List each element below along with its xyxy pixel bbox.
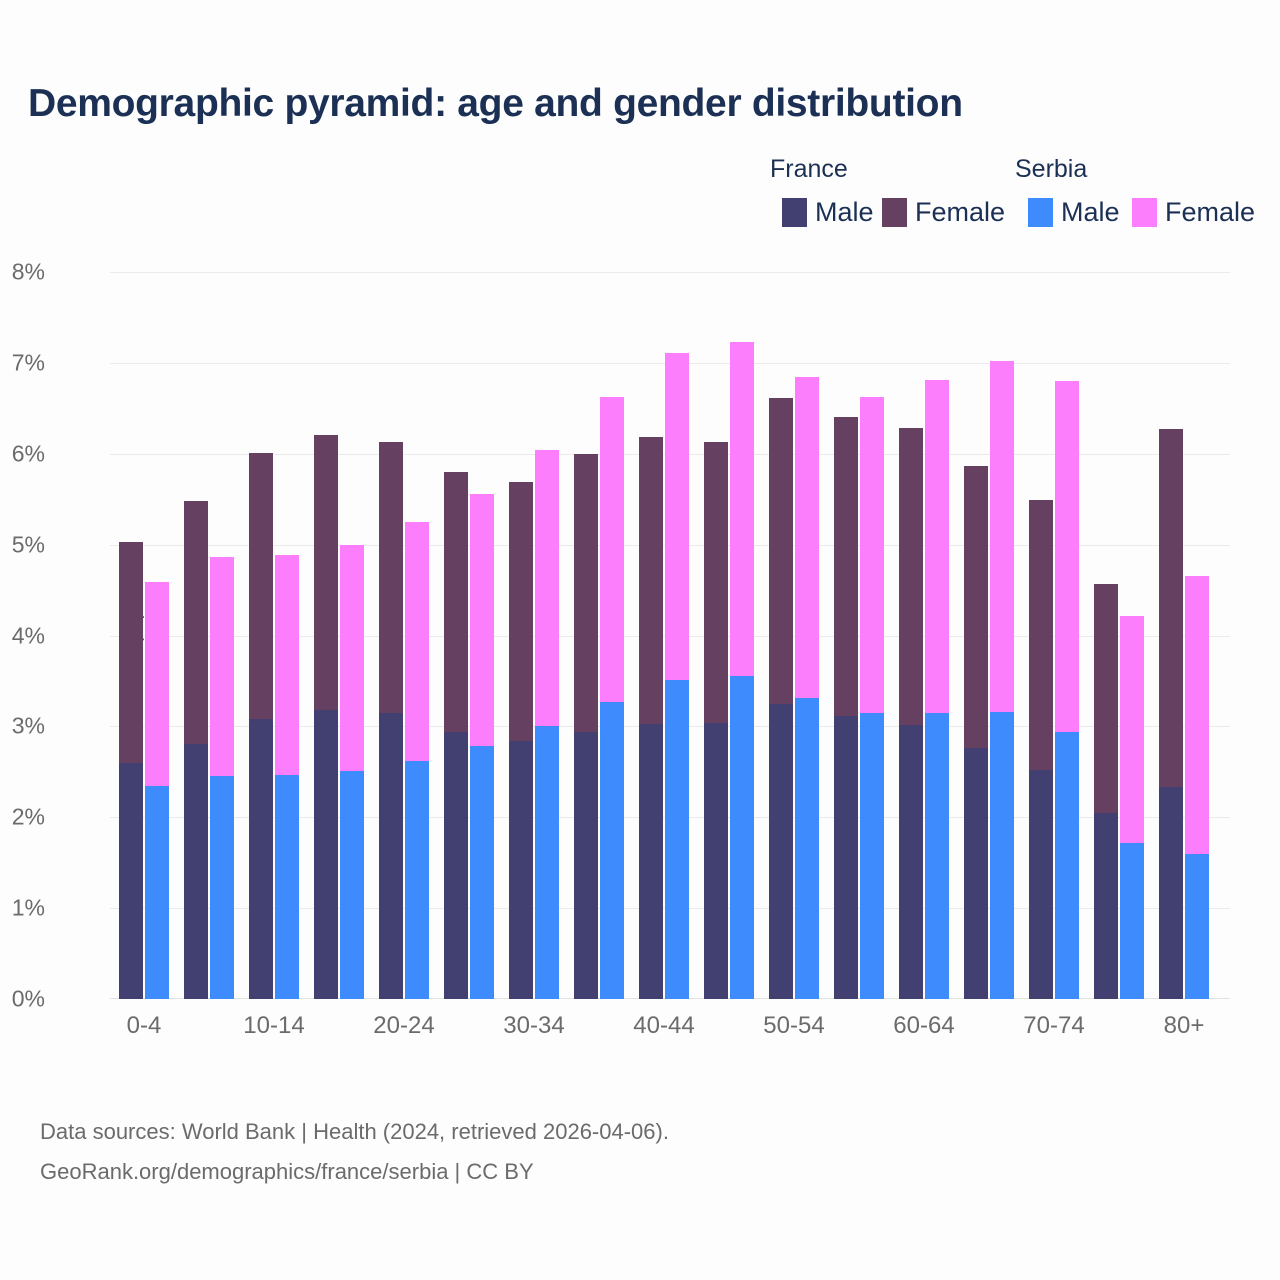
bar-group[interactable] [899, 272, 949, 999]
chart-legend: France Serbia Male Female Male Female [760, 155, 1250, 235]
bar-serbia[interactable] [1185, 576, 1209, 999]
bar-serbia-male-segment [1055, 732, 1079, 999]
bar-france-female-segment [834, 417, 858, 716]
bar-france-female-segment [119, 542, 143, 763]
bar-serbia-female-segment [990, 361, 1014, 712]
bar-group[interactable] [639, 272, 689, 999]
bar-france-male-segment [1029, 770, 1053, 999]
bar-france-female-segment [444, 472, 468, 732]
y-axis-tick-label: 6% [12, 440, 45, 467]
bar-france-male-segment [899, 725, 923, 999]
legend-label: Female [915, 197, 1005, 228]
y-axis-tick-label: 3% [12, 713, 45, 740]
bar-group[interactable] [1094, 272, 1144, 999]
bar-france-female-segment [769, 398, 793, 703]
bar-france-female-segment [509, 482, 533, 741]
bar-serbia-female-segment [1120, 616, 1144, 843]
bar-serbia-male-segment [665, 680, 689, 999]
bar-france[interactable] [1094, 584, 1118, 999]
bar-france-male-segment [574, 732, 598, 999]
bar-serbia-male-segment [730, 676, 754, 1000]
bar-france[interactable] [769, 398, 793, 999]
bar-france-male-segment [119, 763, 143, 999]
bar-serbia[interactable] [275, 555, 299, 999]
bar-france-female-segment [704, 442, 728, 723]
bar-france[interactable] [1029, 500, 1053, 999]
legend-group-title-france: France [770, 155, 848, 184]
bar-group[interactable] [964, 272, 1014, 999]
bar-serbia-female-segment [730, 342, 754, 676]
legend-label: Male [1061, 197, 1120, 228]
x-axis-tick-label: 70-74 [1023, 1012, 1084, 1040]
bar-france-female-segment [1029, 500, 1053, 770]
x-axis-tick-label: 60-64 [893, 1012, 954, 1040]
bar-serbia-male-segment [210, 776, 234, 999]
bar-serbia[interactable] [210, 557, 234, 999]
bar-serbia-male-segment [1120, 843, 1144, 999]
bar-serbia[interactable] [340, 545, 364, 999]
bar-group[interactable] [444, 272, 494, 999]
bar-france-male-segment [509, 741, 533, 999]
bar-serbia[interactable] [795, 377, 819, 999]
bar-serbia-male-segment [470, 746, 494, 999]
bar-serbia-male-segment [275, 775, 299, 999]
bar-serbia[interactable] [600, 397, 624, 999]
bar-group[interactable] [834, 272, 884, 999]
bar-france-female-segment [899, 428, 923, 724]
bar-group[interactable] [1159, 272, 1209, 999]
color-swatch-icon [782, 198, 807, 227]
bar-france-male-segment [639, 724, 663, 999]
bar-france-female-segment [639, 437, 663, 723]
page-title: Demographic pyramid: age and gender dist… [28, 82, 963, 126]
y-axis-tick-label: 8% [12, 259, 45, 286]
bar-france-female-segment [1159, 429, 1183, 787]
bar-france-male-segment [314, 710, 338, 999]
bar-france[interactable] [314, 435, 338, 999]
legend-label: Female [1165, 197, 1255, 228]
bar-france[interactable] [444, 472, 468, 999]
bar-group[interactable] [119, 272, 169, 999]
x-axis-tick-label: 30-34 [503, 1012, 564, 1040]
bar-france[interactable] [184, 501, 208, 999]
bar-serbia-male-segment [535, 726, 559, 999]
footer-line-url: GeoRank.org/demographics/france/serbia |… [40, 1152, 669, 1192]
legend-item-serbia-female[interactable]: Female [1132, 197, 1255, 228]
bar-france-male-segment [1094, 813, 1118, 999]
color-swatch-icon [882, 198, 907, 227]
bar-group[interactable] [1029, 272, 1079, 999]
bar-serbia-male-segment [795, 698, 819, 999]
bar-group[interactable] [509, 272, 559, 999]
bar-serbia[interactable] [990, 361, 1014, 999]
bar-france-male-segment [379, 713, 403, 999]
bar-serbia[interactable] [730, 342, 754, 999]
bar-france[interactable] [379, 442, 403, 999]
bar-serbia-female-segment [600, 397, 624, 701]
legend-label: Male [815, 197, 874, 228]
bar-group[interactable] [769, 272, 819, 999]
bar-serbia[interactable] [925, 380, 949, 999]
y-axis-tick-label: 1% [12, 895, 45, 922]
bar-france[interactable] [704, 442, 728, 999]
y-axis-tick-label: 4% [12, 622, 45, 649]
bar-group[interactable] [379, 272, 429, 999]
bar-serbia[interactable] [665, 353, 689, 999]
bar-serbia[interactable] [145, 582, 169, 999]
y-axis-tick-label: 2% [12, 804, 45, 831]
bar-france-female-segment [314, 435, 338, 710]
bar-serbia-male-segment [925, 713, 949, 999]
bar-serbia[interactable] [470, 494, 494, 999]
bar-serbia[interactable] [535, 450, 559, 999]
legend-items: Male Female Male Female [760, 197, 1250, 231]
y-axis-tick-label: 7% [12, 349, 45, 376]
footer-line-sources: Data sources: World Bank | Health (2024,… [40, 1112, 669, 1152]
bar-serbia-female-segment [665, 353, 689, 680]
plot-area: Share of population 0%1%2%3%4%5%6%7%8%0-… [110, 272, 1230, 999]
legend-group-title-serbia: Serbia [1015, 155, 1087, 184]
bar-serbia-female-segment [795, 377, 819, 698]
bar-france-male-segment [1159, 787, 1183, 999]
bar-serbia-male-segment [145, 786, 169, 999]
bar-france-male-segment [184, 744, 208, 999]
bar-serbia-female-segment [1055, 381, 1079, 732]
bar-france[interactable] [639, 437, 663, 999]
color-swatch-icon [1132, 198, 1157, 227]
bar-serbia-male-segment [860, 713, 884, 999]
bar-france-female-segment [184, 501, 208, 744]
bar-serbia-female-segment [340, 545, 364, 771]
bar-france[interactable] [899, 428, 923, 999]
bar-serbia-male-segment [340, 771, 364, 999]
legend-group-titles: France Serbia [760, 155, 1250, 185]
bar-france-male-segment [704, 723, 728, 999]
bar-serbia-female-segment [470, 494, 494, 747]
bar-serbia-female-segment [405, 522, 429, 761]
bar-france[interactable] [119, 542, 143, 999]
bar-group[interactable] [184, 272, 234, 999]
x-axis-tick-label: 10-14 [243, 1012, 304, 1040]
bar-france[interactable] [509, 482, 533, 999]
x-axis-tick-label: 80+ [1164, 1012, 1205, 1040]
bar-france-female-segment [1094, 584, 1118, 813]
bar-serbia-female-segment [860, 397, 884, 713]
chart-page: Demographic pyramid: age and gender dist… [0, 0, 1280, 1280]
bar-serbia-female-segment [925, 380, 949, 713]
bar-serbia[interactable] [1055, 381, 1079, 999]
bar-france-female-segment [574, 454, 598, 732]
bar-serbia[interactable] [860, 397, 884, 1000]
bar-serbia-female-segment [535, 450, 559, 726]
footer-credits: Data sources: World Bank | Health (2024,… [40, 1112, 669, 1192]
bar-france-male-segment [964, 748, 988, 999]
bar-serbia[interactable] [1120, 616, 1144, 999]
x-axis-tick-label: 50-54 [763, 1012, 824, 1040]
bar-group[interactable] [249, 272, 299, 999]
bar-france-male-segment [444, 732, 468, 999]
bar-serbia-female-segment [210, 557, 234, 776]
bar-serbia-female-segment [275, 555, 299, 776]
bar-serbia-male-segment [600, 702, 624, 999]
bar-france-female-segment [379, 442, 403, 713]
bar-france[interactable] [1159, 429, 1183, 999]
x-axis-tick-label: 40-44 [633, 1012, 694, 1040]
bar-france-female-segment [964, 466, 988, 749]
bar-serbia-female-segment [145, 582, 169, 786]
y-axis-tick-label: 0% [12, 986, 45, 1013]
bar-group[interactable] [704, 272, 754, 999]
y-axis-tick-label: 5% [12, 531, 45, 558]
legend-item-france-male[interactable]: Male [782, 197, 874, 228]
legend-item-france-female[interactable]: Female [882, 197, 1005, 228]
x-axis-tick-label: 20-24 [373, 1012, 434, 1040]
bar-serbia[interactable] [405, 522, 429, 999]
bar-france-male-segment [834, 716, 858, 999]
bar-serbia-male-segment [990, 712, 1014, 999]
bar-group[interactable] [574, 272, 624, 999]
bar-france[interactable] [964, 466, 988, 999]
color-swatch-icon [1028, 198, 1053, 227]
bar-france-female-segment [249, 453, 273, 719]
bar-france-male-segment [769, 704, 793, 999]
bar-serbia-female-segment [1185, 576, 1209, 853]
bar-france[interactable] [249, 453, 273, 999]
x-axis-tick-label: 0-4 [127, 1012, 162, 1040]
bar-group[interactable] [314, 272, 364, 999]
bar-france[interactable] [834, 417, 858, 999]
bar-serbia-male-segment [1185, 854, 1209, 999]
bar-france-male-segment [249, 719, 273, 999]
bar-france[interactable] [574, 454, 598, 999]
legend-item-serbia-male[interactable]: Male [1028, 197, 1120, 228]
bar-serbia-male-segment [405, 761, 429, 999]
